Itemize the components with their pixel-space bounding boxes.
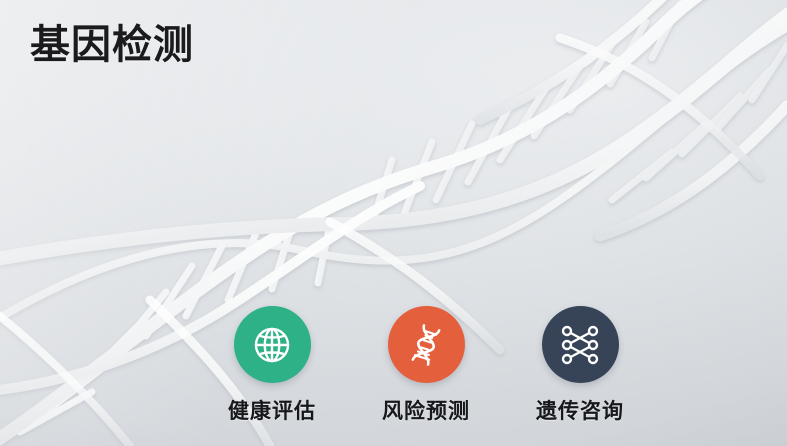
network-nodes-icon — [558, 323, 602, 367]
feature-badge-genetic-counseling[interactable] — [542, 306, 619, 383]
feature-label-genetic-counseling: 遗传咨询 — [536, 395, 624, 425]
feature-badge-risk-prediction[interactable] — [388, 306, 465, 383]
feature-label-risk-prediction: 风险预测 — [382, 395, 470, 425]
feature-item-risk-prediction[interactable]: 风险预测 — [360, 306, 492, 425]
dna-helix-icon — [403, 322, 449, 368]
page-title: 基因检测 — [30, 20, 194, 70]
feature-item-genetic-counseling[interactable]: 遗传咨询 — [514, 306, 646, 425]
globe-icon — [250, 323, 294, 367]
feature-row: 健康评估 — [206, 306, 646, 425]
feature-item-health-assessment[interactable]: 健康评估 — [206, 306, 338, 425]
feature-badge-health-assessment[interactable] — [234, 306, 311, 383]
feature-label-health-assessment: 健康评估 — [228, 395, 316, 425]
slide-canvas: 基因检测 健康评估 — [0, 0, 787, 446]
